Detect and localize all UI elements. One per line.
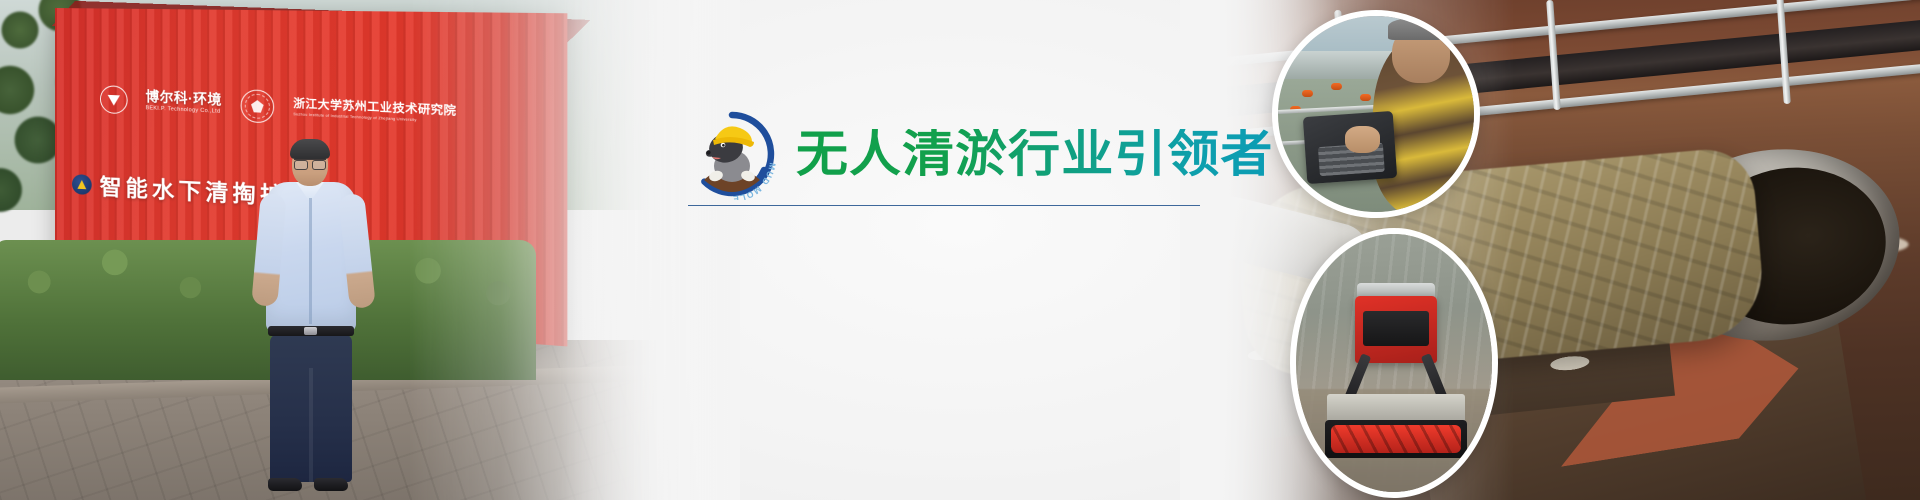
dredging-robot-photo <box>1290 228 1498 498</box>
hero-banner: 博尔科·环境 BEKI.P. Technology Co.,Ltd 浙江大学苏州… <box>0 0 1920 500</box>
mole-with-hardhat-logo: MUD MOLE <box>686 108 778 200</box>
orange-float-marker <box>1302 90 1313 97</box>
headline-row: MUD MOLE 无人清淤行业引领者 <box>686 108 1255 200</box>
orange-float-marker <box>1331 83 1342 90</box>
container-and-engineer-photo: 博尔科·环境 BEKI.P. Technology Co.,Ltd 浙江大学苏州… <box>0 0 660 500</box>
figure-belt <box>268 326 354 336</box>
figure-shirt-placket <box>309 198 312 324</box>
slogan-badge-icon <box>72 174 92 195</box>
robot-photo-content <box>1296 234 1492 492</box>
title-divider <box>688 205 1200 206</box>
figure-shoe-left <box>268 478 302 491</box>
center-content: MUD MOLE 无人清淤行业引领者 <box>660 0 1260 500</box>
robot-auger-screw <box>1331 425 1460 453</box>
operator-hand <box>1345 126 1380 153</box>
figure-shoe-right <box>314 478 348 491</box>
operator-hat <box>1388 18 1455 40</box>
figure-trousers <box>270 334 352 482</box>
page-title: 无人清淤行业引领者 <box>796 129 1273 179</box>
company-name-en: BEKI.P. Technology Co.,Ltd <box>146 106 222 115</box>
figure-hair <box>290 139 330 159</box>
engineer-figure <box>252 142 372 492</box>
company-brand-text: 博尔科·环境 BEKI.P. Technology Co.,Ltd <box>146 90 222 116</box>
company-logo-icon <box>100 85 128 114</box>
university-seal-icon <box>241 89 275 124</box>
operator-remote-control-photo <box>1272 10 1480 218</box>
operator-photo-content <box>1278 16 1474 212</box>
figure-glasses <box>294 159 326 168</box>
institute-brand-text: 浙江大学苏州工业技术研究院 Suzhou Institute of Indust… <box>293 99 456 125</box>
robot-body <box>1355 296 1437 363</box>
